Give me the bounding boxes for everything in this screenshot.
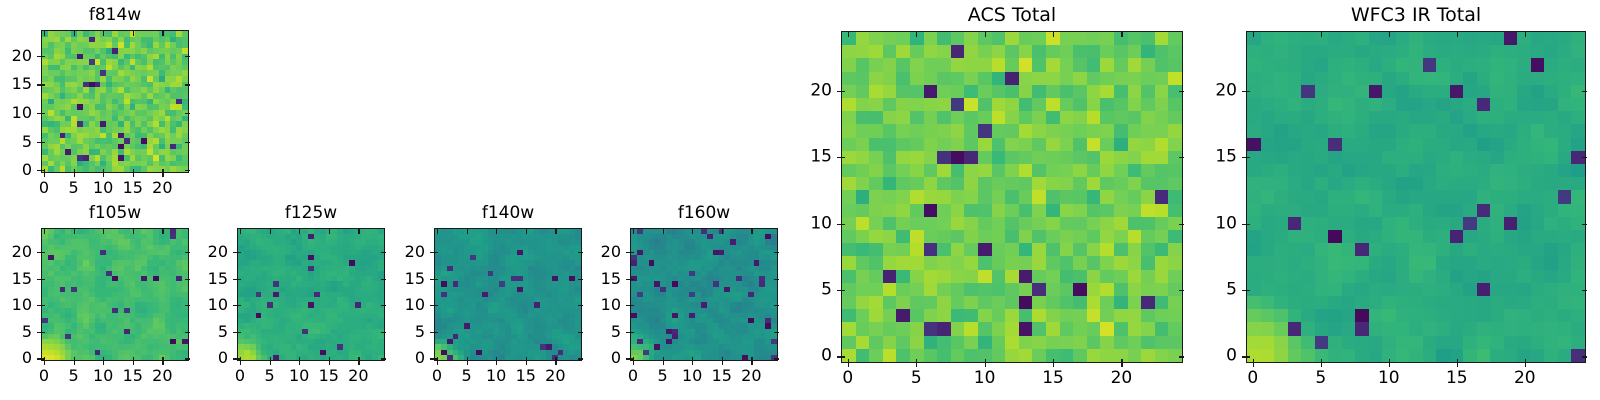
heatmap-cell xyxy=(563,255,569,260)
heatmap-cell xyxy=(279,266,285,271)
heatmap-cell xyxy=(118,70,124,76)
heatmap-cell xyxy=(256,329,262,334)
heatmap-cell xyxy=(182,76,188,82)
panel-f105w-ytick-right xyxy=(185,358,190,359)
heatmap-cell xyxy=(1342,164,1356,177)
heatmap-cell xyxy=(112,292,118,297)
heatmap-cell xyxy=(678,318,684,323)
heatmap-cell xyxy=(48,149,54,155)
heatmap-cell xyxy=(77,339,83,344)
heatmap-cell xyxy=(575,297,581,302)
heatmap-cell xyxy=(71,133,77,139)
heatmap-cell xyxy=(575,260,581,265)
heatmap-cell xyxy=(349,339,355,344)
heatmap-cell xyxy=(1436,164,1450,177)
heatmap-cell xyxy=(106,133,112,139)
panel-f814w-xtick xyxy=(162,169,163,177)
heatmap-cell xyxy=(1141,230,1155,243)
heatmap-cell xyxy=(1141,85,1155,98)
heatmap-cell xyxy=(896,243,910,256)
heatmap-cell xyxy=(937,243,951,256)
heatmap-cell xyxy=(1073,190,1087,203)
heatmap-cell xyxy=(89,70,95,76)
heatmap-cell xyxy=(238,281,244,286)
heatmap-cell xyxy=(1477,177,1491,190)
heatmap-cell xyxy=(60,93,66,99)
heatmap-cell xyxy=(89,308,95,313)
heatmap-cell xyxy=(759,297,765,302)
panel-f140w-xtick xyxy=(437,357,438,365)
heatmap-cell xyxy=(1128,309,1142,322)
heatmap-cell xyxy=(326,271,332,276)
heatmap-cell xyxy=(482,229,488,234)
heatmap-cell xyxy=(159,313,165,318)
heatmap-cell xyxy=(118,37,124,43)
heatmap-cell xyxy=(42,260,48,265)
heatmap-cell xyxy=(238,239,244,244)
heatmap-cell xyxy=(153,48,159,54)
heatmap-cell xyxy=(660,339,666,344)
heatmap-cell xyxy=(1315,72,1329,85)
heatmap-cell xyxy=(546,350,552,355)
heatmap-cell xyxy=(100,82,106,88)
heatmap-cell xyxy=(1450,98,1464,111)
heatmap-cell xyxy=(1315,138,1329,151)
heatmap-cell xyxy=(273,276,279,281)
heatmap-cell xyxy=(1463,217,1477,230)
heatmap-cell xyxy=(130,48,136,54)
heatmap-cell xyxy=(54,149,60,155)
heatmap-cell xyxy=(643,287,649,292)
heatmap-cell xyxy=(695,302,701,307)
heatmap-cell xyxy=(89,144,95,150)
heatmap-cell xyxy=(1558,58,1572,71)
heatmap-cell xyxy=(1114,124,1128,137)
heatmap-cell xyxy=(1073,204,1087,217)
heatmap-cell xyxy=(684,344,690,349)
heatmap-cell xyxy=(106,65,112,71)
heatmap-cell xyxy=(951,349,965,362)
heatmap-cell xyxy=(176,266,182,271)
heatmap-cell xyxy=(678,339,684,344)
heatmap-cell xyxy=(666,323,672,328)
heatmap-cell xyxy=(964,98,978,111)
heatmap-cell xyxy=(937,190,951,203)
heatmap-cell xyxy=(71,266,77,271)
heatmap-cell xyxy=(951,204,965,217)
heatmap-cell xyxy=(660,308,666,313)
heatmap-cell xyxy=(296,229,302,234)
heatmap-cell xyxy=(130,161,136,167)
heatmap-cell xyxy=(1141,124,1155,137)
heatmap-cell xyxy=(488,329,494,334)
heatmap-cell xyxy=(153,116,159,122)
heatmap-cell xyxy=(1450,217,1464,230)
heatmap-cell xyxy=(361,313,367,318)
heatmap-cell xyxy=(130,42,136,48)
heatmap-cell xyxy=(1155,296,1169,309)
heatmap-cell xyxy=(951,270,965,283)
heatmap-cell xyxy=(435,260,441,265)
heatmap-cell xyxy=(83,271,89,276)
heatmap-cell xyxy=(558,302,564,307)
heatmap-cell xyxy=(1247,309,1261,322)
heatmap-cell xyxy=(842,243,856,256)
heatmap-cell xyxy=(165,76,171,82)
heatmap-cell xyxy=(285,276,291,281)
heatmap-cell xyxy=(1046,230,1060,243)
heatmap-cell xyxy=(355,260,361,265)
panel-f814w-title: f814w xyxy=(41,7,189,24)
heatmap-cell xyxy=(631,281,637,286)
heatmap-cell xyxy=(666,318,672,323)
heatmap-cell xyxy=(1274,230,1288,243)
heatmap-cell xyxy=(1274,309,1288,322)
heatmap-cell xyxy=(488,334,494,339)
heatmap-cell xyxy=(742,229,748,234)
heatmap-cell xyxy=(130,70,136,76)
heatmap-cell xyxy=(517,239,523,244)
panel-f160w-yticklabel: 15 xyxy=(0,271,621,287)
heatmap-cell xyxy=(1168,270,1182,283)
heatmap-cell xyxy=(118,318,124,323)
heatmap-cell xyxy=(1141,336,1155,349)
heatmap-cell xyxy=(320,339,326,344)
heatmap-cell xyxy=(95,339,101,344)
heatmap-cell xyxy=(748,276,754,281)
heatmap-cell xyxy=(60,271,66,276)
heatmap-cell xyxy=(637,250,643,255)
heatmap-cell xyxy=(453,297,459,302)
heatmap-cell xyxy=(165,37,171,43)
heatmap-cell xyxy=(910,204,924,217)
heatmap-cell xyxy=(511,260,517,265)
heatmap-cell xyxy=(279,260,285,265)
heatmap-cell xyxy=(523,266,529,271)
heatmap-cell xyxy=(666,292,672,297)
heatmap-cell xyxy=(534,344,540,349)
heatmap-cell xyxy=(1261,230,1275,243)
heatmap-cell xyxy=(883,190,897,203)
heatmap-cell xyxy=(552,308,558,313)
heatmap-cell xyxy=(660,260,666,265)
heatmap-cell xyxy=(176,70,182,76)
heatmap-cell xyxy=(250,308,256,313)
heatmap-cell xyxy=(60,127,66,133)
heatmap-cell xyxy=(1369,309,1383,322)
heatmap-cell xyxy=(517,339,523,344)
heatmap-cell xyxy=(83,245,89,250)
heatmap-cell xyxy=(135,70,141,76)
heatmap-cell xyxy=(951,58,965,71)
heatmap-cell xyxy=(65,229,71,234)
heatmap-cell xyxy=(964,138,978,151)
heatmap-cell xyxy=(1168,32,1182,45)
heatmap-cell xyxy=(689,334,695,339)
heatmap-cell xyxy=(112,99,118,105)
heatmap-cell xyxy=(951,296,965,309)
heatmap-cell xyxy=(719,355,725,360)
heatmap-cell xyxy=(118,161,124,167)
heatmap-cell xyxy=(1409,322,1423,335)
heatmap-cell xyxy=(759,313,765,318)
heatmap-cell xyxy=(563,323,569,328)
heatmap-cell xyxy=(992,309,1006,322)
heatmap-cell xyxy=(60,250,66,255)
panel-acs-total-xticklabel: 10 xyxy=(974,370,996,387)
heatmap-cell xyxy=(165,260,171,265)
heatmap-cell xyxy=(1315,309,1329,322)
heatmap-cell xyxy=(1301,204,1315,217)
heatmap-cell xyxy=(147,229,153,234)
heatmap-cell xyxy=(1261,85,1275,98)
heatmap-cell xyxy=(372,318,378,323)
heatmap-cell xyxy=(308,260,314,265)
heatmap-cell xyxy=(54,281,60,286)
heatmap-cell xyxy=(308,292,314,297)
heatmap-cell xyxy=(1301,336,1315,349)
panel-f814w-xtick-top xyxy=(133,30,134,36)
heatmap-cell xyxy=(654,323,660,328)
heatmap-cell xyxy=(493,234,499,239)
heatmap-cell xyxy=(65,355,71,360)
heatmap-cell xyxy=(141,229,147,234)
heatmap-cell xyxy=(261,292,267,297)
heatmap-cell xyxy=(302,271,308,276)
heatmap-cell xyxy=(279,245,285,250)
heatmap-cell xyxy=(1558,243,1572,256)
heatmap-cell xyxy=(135,266,141,271)
heatmap-cell xyxy=(689,350,695,355)
heatmap-cell xyxy=(141,48,147,54)
heatmap-cell xyxy=(141,42,147,48)
heatmap-cell xyxy=(302,313,308,318)
heatmap-cell xyxy=(978,336,992,349)
heatmap-cell xyxy=(1504,349,1518,362)
heatmap-cell xyxy=(765,350,771,355)
panel-wfc3-ir-total-xtick xyxy=(1253,359,1254,367)
heatmap-cell xyxy=(147,87,153,93)
heatmap-cell xyxy=(1005,32,1019,45)
heatmap-cell xyxy=(147,65,153,71)
heatmap-cell xyxy=(1504,309,1518,322)
heatmap-cell xyxy=(100,127,106,133)
heatmap-cell xyxy=(1490,58,1504,71)
heatmap-cell xyxy=(1288,45,1302,58)
heatmap-cell xyxy=(1288,138,1302,151)
heatmap-cell xyxy=(135,271,141,276)
heatmap-cell xyxy=(1301,138,1315,151)
heatmap-cell xyxy=(170,87,176,93)
heatmap-cell xyxy=(924,151,938,164)
heatmap-cell xyxy=(355,323,361,328)
heatmap-cell xyxy=(569,287,575,292)
heatmap-cell xyxy=(153,355,159,360)
heatmap-cell xyxy=(291,302,297,307)
heatmap-cell xyxy=(505,239,511,244)
heatmap-cell xyxy=(869,190,883,203)
heatmap-cell xyxy=(701,355,707,360)
heatmap-cell xyxy=(742,302,748,307)
heatmap-cell xyxy=(678,313,684,318)
heatmap-cell xyxy=(71,121,77,127)
heatmap-cell xyxy=(637,329,643,334)
heatmap-cell xyxy=(684,260,690,265)
heatmap-cell xyxy=(631,229,637,234)
heatmap-cell xyxy=(42,93,48,99)
panel-f125w-xtick-top xyxy=(329,228,330,234)
heatmap-cell xyxy=(470,287,476,292)
heatmap-cell xyxy=(540,281,546,286)
heatmap-cell xyxy=(1382,217,1396,230)
heatmap-cell xyxy=(534,329,540,334)
heatmap-cell xyxy=(856,85,870,98)
heatmap-cell xyxy=(261,255,267,260)
heatmap-cell xyxy=(482,266,488,271)
heatmap-cell xyxy=(713,308,719,313)
heatmap-cell xyxy=(1060,270,1074,283)
heatmap-cell xyxy=(637,281,643,286)
heatmap-cell xyxy=(1155,349,1169,362)
heatmap-cell xyxy=(42,155,48,161)
heatmap-cell xyxy=(141,133,147,139)
heatmap-cell xyxy=(42,344,48,349)
heatmap-cell xyxy=(558,292,564,297)
heatmap-cell xyxy=(499,355,505,360)
heatmap-cell xyxy=(534,234,540,239)
heatmap-cell xyxy=(937,270,951,283)
heatmap-cell xyxy=(1328,256,1342,269)
heatmap-cell xyxy=(42,65,48,71)
heatmap-cell xyxy=(569,250,575,255)
heatmap-cell xyxy=(1100,217,1114,230)
panel-acs-total-image xyxy=(842,32,1182,362)
heatmap-cell xyxy=(736,287,742,292)
heatmap-cell xyxy=(153,127,159,133)
heatmap-cell xyxy=(759,281,765,286)
heatmap-cell xyxy=(83,70,89,76)
heatmap-cell xyxy=(453,308,459,313)
heatmap-cell xyxy=(1114,309,1128,322)
heatmap-cell xyxy=(637,287,643,292)
heatmap-cell xyxy=(552,302,558,307)
heatmap-cell xyxy=(435,276,441,281)
heatmap-cell xyxy=(441,297,447,302)
heatmap-cell xyxy=(106,37,112,43)
heatmap-cell xyxy=(1382,32,1396,45)
heatmap-cell xyxy=(326,255,332,260)
heatmap-cell xyxy=(695,323,701,328)
heatmap-cell xyxy=(1114,58,1128,71)
heatmap-cell xyxy=(112,329,118,334)
heatmap-cell xyxy=(458,281,464,286)
heatmap-cell xyxy=(378,313,384,318)
heatmap-cell xyxy=(742,281,748,286)
heatmap-cell xyxy=(1571,270,1585,283)
heatmap-cell xyxy=(1087,243,1101,256)
heatmap-cell xyxy=(170,59,176,65)
panel-acs-total-xticklabel: 5 xyxy=(911,370,922,387)
heatmap-cell xyxy=(1477,190,1491,203)
heatmap-cell xyxy=(1423,58,1437,71)
heatmap-cell xyxy=(1288,283,1302,296)
heatmap-cell xyxy=(159,65,165,71)
heatmap-cell xyxy=(331,271,337,276)
heatmap-cell xyxy=(279,250,285,255)
heatmap-cell xyxy=(964,243,978,256)
heatmap-cell xyxy=(546,318,552,323)
heatmap-cell xyxy=(1019,85,1033,98)
heatmap-cell xyxy=(453,313,459,318)
heatmap-cell xyxy=(165,138,171,144)
heatmap-cell xyxy=(267,318,273,323)
heatmap-cell xyxy=(141,260,147,265)
heatmap-cell xyxy=(447,308,453,313)
heatmap-cell xyxy=(170,323,176,328)
heatmap-cell xyxy=(267,339,273,344)
heatmap-cell xyxy=(1168,111,1182,124)
heatmap-cell xyxy=(1168,177,1182,190)
heatmap-cell xyxy=(366,297,372,302)
heatmap-cell xyxy=(978,58,992,71)
heatmap-cell xyxy=(759,229,765,234)
heatmap-cell xyxy=(1155,32,1169,45)
heatmap-cell xyxy=(528,318,534,323)
heatmap-cell xyxy=(558,281,564,286)
heatmap-cell xyxy=(765,297,771,302)
heatmap-cell xyxy=(106,229,112,234)
heatmap-cell xyxy=(159,234,165,239)
heatmap-cell xyxy=(130,334,136,339)
heatmap-cell xyxy=(106,70,112,76)
heatmap-cell xyxy=(643,350,649,355)
heatmap-cell xyxy=(458,334,464,339)
heatmap-cell xyxy=(937,45,951,58)
heatmap-cell xyxy=(678,302,684,307)
heatmap-cell xyxy=(244,339,250,344)
heatmap-cell xyxy=(748,287,754,292)
heatmap-cell xyxy=(291,350,297,355)
heatmap-cell xyxy=(112,281,118,286)
heatmap-cell xyxy=(742,266,748,271)
heatmap-cell xyxy=(320,334,326,339)
heatmap-cell xyxy=(279,287,285,292)
heatmap-cell xyxy=(153,93,159,99)
heatmap-cell xyxy=(135,245,141,250)
heatmap-cell xyxy=(331,318,337,323)
heatmap-cell xyxy=(992,32,1006,45)
heatmap-cell xyxy=(643,266,649,271)
heatmap-cell xyxy=(654,229,660,234)
heatmap-cell xyxy=(631,245,637,250)
heatmap-cell xyxy=(1155,204,1169,217)
heatmap-cell xyxy=(1423,349,1437,362)
heatmap-cell xyxy=(48,260,54,265)
heatmap-cell xyxy=(1423,296,1437,309)
panel-f160w-axes xyxy=(630,228,778,361)
heatmap-cell xyxy=(1155,336,1169,349)
heatmap-cell xyxy=(366,339,372,344)
heatmap-cell xyxy=(256,245,262,250)
heatmap-cell xyxy=(314,245,320,250)
heatmap-cell xyxy=(1087,58,1101,71)
heatmap-cell xyxy=(372,271,378,276)
heatmap-cell xyxy=(575,344,581,349)
heatmap-cell xyxy=(147,350,153,355)
heatmap-cell xyxy=(182,281,188,286)
heatmap-cell xyxy=(60,149,66,155)
heatmap-cell xyxy=(48,276,54,281)
